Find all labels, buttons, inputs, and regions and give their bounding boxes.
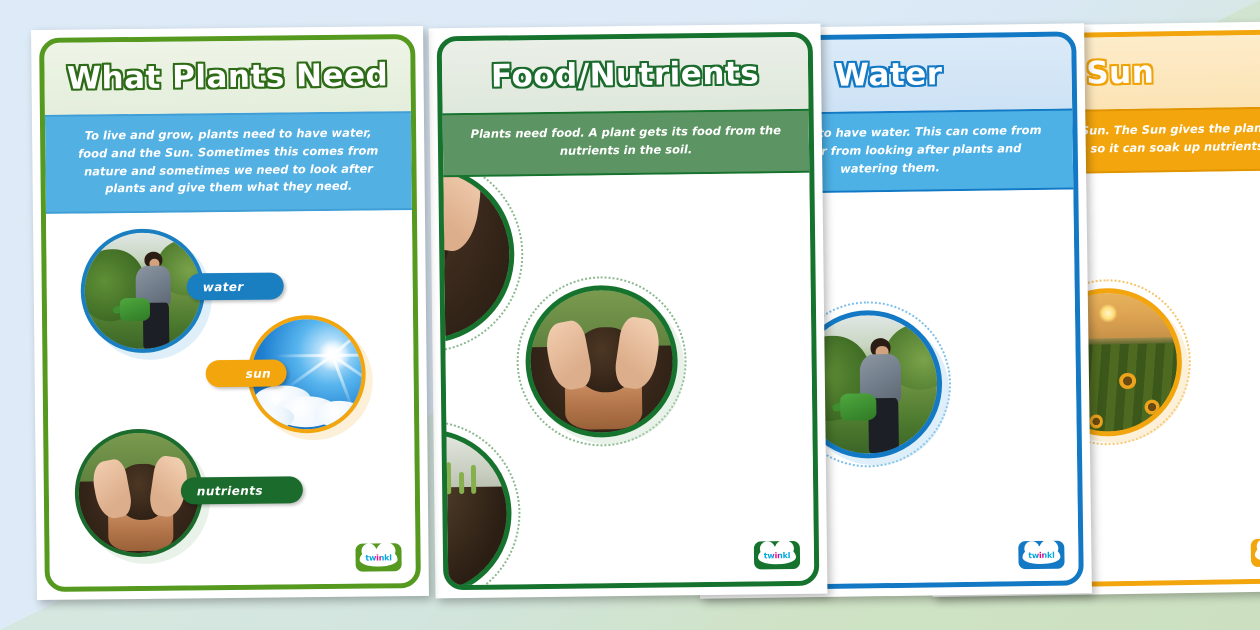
card-body-food-nutrients: twinkl	[443, 172, 814, 585]
card-subtitle-food-nutrients: Plants need food. A plant gets its food …	[443, 109, 810, 177]
photo-hands-soil	[525, 284, 679, 438]
card-title-sun: Sun	[1086, 54, 1155, 91]
card-title-what-plants-need: What Plants Need	[67, 57, 389, 96]
twinkl-logo-text: twinkl	[764, 551, 791, 560]
card-header-food-nutrients: Food/Nutrients	[442, 37, 809, 113]
twinkl-logo[interactable]: twinkl	[355, 543, 401, 571]
card-body-what-plants-need: water	[46, 210, 416, 587]
card-title-water: Water	[835, 56, 943, 93]
label-pill-nutrients[interactable]: nutrients	[181, 476, 303, 504]
twinkl-logo-text: twinkl	[365, 553, 392, 562]
twinkl-logo[interactable]: twinkl	[754, 541, 800, 570]
poster-set-canvas: Sun Plants need the Sun. The Sun gives t…	[0, 0, 1260, 630]
photo-seedlings	[443, 428, 512, 585]
twinkl-logo[interactable]: twinkl	[1251, 538, 1260, 567]
poster-card-food-nutrients[interactable]: Food/Nutrients Plants need food. A plant…	[429, 24, 828, 599]
poster-card-what-plants-need[interactable]: What Plants Need To live and grow, plant…	[31, 26, 429, 600]
twinkl-logo-text: twinkl	[1028, 550, 1055, 559]
label-pill-water[interactable]: water	[187, 273, 284, 301]
label-pill-water-text: water	[203, 280, 244, 294]
label-pill-nutrients-text: nutrients	[197, 483, 263, 498]
card-title-food-nutrients: Food/Nutrients	[491, 55, 760, 94]
card-subtitle-what-plants-need: To live and grow, plants need to have wa…	[45, 111, 412, 214]
label-pill-sun[interactable]: sun	[205, 360, 287, 388]
photo-potting-soil	[443, 172, 515, 344]
twinkl-logo[interactable]: twinkl	[1018, 541, 1064, 570]
label-pill-sun-text: sun	[246, 366, 272, 380]
card-header-what-plants-need: What Plants Need	[44, 39, 411, 115]
